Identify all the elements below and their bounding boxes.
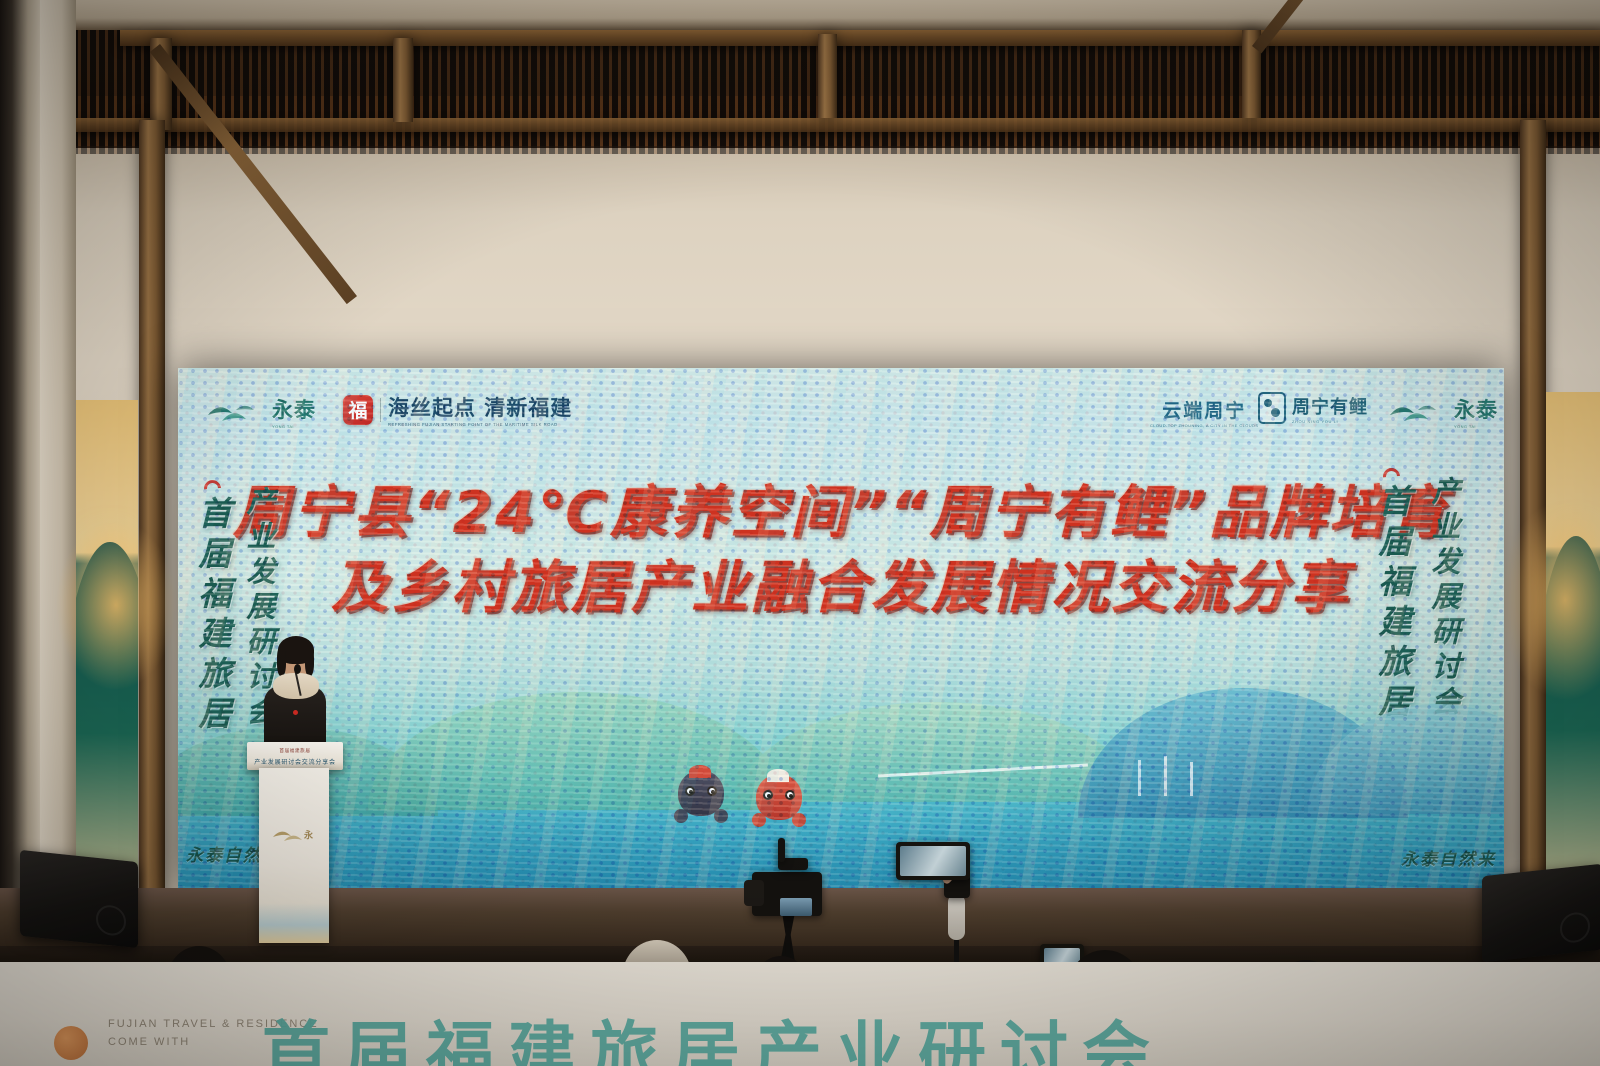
yunduan-logo-en: CLOUD-TOP ZHOUNING, A CITY IN THE CLOUDS bbox=[1150, 423, 1258, 428]
koi-eye-right-red bbox=[785, 790, 795, 800]
yunduan-logo-cn: 云端周宁 bbox=[1150, 396, 1258, 423]
illustration-pavilion-post-2 bbox=[1164, 756, 1167, 796]
roof-beam-horizontal-1 bbox=[120, 30, 1600, 46]
podium-sign-line-1: 首届福建旅居 bbox=[247, 748, 343, 754]
camera-shotgun-mic bbox=[778, 838, 785, 862]
yongtai-logo-right: 永泰 YONG TAI bbox=[1388, 394, 1498, 429]
hall-post-right bbox=[1520, 120, 1546, 950]
koi-eye-left-red bbox=[763, 790, 773, 800]
led-backdrop-screen: 永泰 YONG TAI 福 海丝起点 清新福建 REFRESHING FUJIA… bbox=[178, 368, 1504, 888]
zhouning-youli-logo: 周宁有鲤 ZHOU NING YOU LI bbox=[1258, 392, 1368, 424]
podium-yongtai-logo: 永 bbox=[272, 826, 316, 842]
koi-fin-right-red bbox=[792, 813, 806, 827]
bottom-banner-text: 首届福建旅居产业研讨会 bbox=[262, 998, 1164, 1066]
koi-seal-icon bbox=[1258, 392, 1286, 424]
birds-icon bbox=[206, 399, 268, 425]
gimbal-phone bbox=[896, 842, 970, 880]
microphone-head-icon bbox=[294, 664, 301, 674]
video-camera-screen bbox=[780, 898, 812, 916]
video-camera-lens bbox=[744, 880, 764, 906]
hall-post-left bbox=[139, 120, 165, 950]
podium-sign-line-2: 产业发展研讨会交流分享会 bbox=[247, 757, 343, 766]
led-logo-row: 永泰 YONG TAI 福 海丝起点 清新福建 REFRESHING FUJIA… bbox=[178, 386, 1504, 442]
ceiling-top-rail bbox=[0, 0, 1600, 30]
illustration-pavilion-post-1 bbox=[1138, 760, 1141, 796]
bottom-banner: FUJIAN TRAVEL & RESIDENCE COME WITH 首届福建… bbox=[0, 962, 1600, 1066]
yongtai-logo-right-cn: 永泰 bbox=[1454, 394, 1498, 424]
led-main-title: 周宁县“24℃康养空间”“周宁有鲤”品牌培育 及乡村旅居产业融合发展情况交流分享 bbox=[178, 476, 1504, 626]
koi-cap-dark bbox=[689, 765, 711, 778]
roof-post-3 bbox=[818, 34, 837, 118]
roof-beam-horizontal-2 bbox=[60, 118, 1600, 132]
yunduan-zhouning-logo: 云端周宁 CLOUD-TOP ZHOUNING, A CITY IN THE C… bbox=[1150, 396, 1258, 428]
gimbal-grip bbox=[948, 894, 965, 940]
zhouning-logo-cn: 周宁有鲤 bbox=[1292, 393, 1368, 419]
led-title-line-1: 周宁县“24℃康养空间”“周宁有鲤”品牌培育 bbox=[178, 476, 1504, 551]
svg-text:永: 永 bbox=[303, 829, 314, 841]
led-watermark-right: 永泰自然来 bbox=[1401, 845, 1496, 870]
podium-top: 首届福建旅居 产业发展研讨会交流分享会 bbox=[247, 742, 343, 770]
led-landscape-illustration: 永泰自然来 永泰自然来 bbox=[178, 678, 1504, 888]
bottom-banner-en: COME WITH bbox=[108, 1036, 190, 1048]
koi-eye-right-dark bbox=[707, 786, 717, 796]
fujian-tourism-logo: 福 海丝起点 清新福建 REFRESHING FUJIAN STARTING P… bbox=[343, 392, 572, 427]
birds-icon-right bbox=[1388, 399, 1450, 425]
yongtai-logo-left-cn: 永泰 bbox=[272, 394, 316, 424]
presenter-figure bbox=[265, 640, 325, 752]
stage-monitor-speaker-left bbox=[20, 850, 138, 948]
yongtai-logo-left: 永泰 YONG TAI bbox=[206, 394, 316, 429]
presenter-hair-right bbox=[305, 646, 314, 676]
hall-pillar-inner-left bbox=[40, 0, 76, 1000]
illustration-hill-2 bbox=[368, 692, 788, 810]
backdrop-art-right bbox=[1546, 392, 1600, 944]
illustration-pavilion-post-3 bbox=[1190, 762, 1193, 796]
koi-fin-right-dark bbox=[714, 809, 728, 823]
koi-mascot-dark bbox=[678, 770, 724, 816]
koi-mascot-red bbox=[756, 774, 802, 820]
zhouning-logo-en: ZHOU NING YOU LI bbox=[1292, 419, 1368, 424]
stage-monitor-speaker-right bbox=[1482, 864, 1600, 963]
presenter-hair-left bbox=[277, 646, 286, 676]
podium-sign: 首届福建旅居 产业发展研讨会交流分享会 bbox=[247, 748, 343, 766]
logo-divider bbox=[380, 398, 381, 422]
yongtai-logo-right-en: YONG TAI bbox=[1454, 424, 1498, 429]
fujian-logo-en: REFRESHING FUJIAN STARTING POINT OF THE … bbox=[388, 422, 572, 427]
banner-flower-icon bbox=[54, 1026, 88, 1060]
podium-body: 永 bbox=[259, 768, 329, 943]
koi-fin-left-dark bbox=[674, 809, 688, 823]
gimbal-phone-screen bbox=[900, 846, 966, 876]
koi-eye-left-dark bbox=[685, 786, 695, 796]
led-title-line-2: 及乡村旅居产业融合发展情况交流分享 bbox=[178, 551, 1504, 626]
yongtai-logo-left-en: YONG TAI bbox=[272, 424, 316, 429]
photo-scene: 永泰 YONG TAI 福 海丝起点 清新福建 REFRESHING FUJIA… bbox=[0, 0, 1600, 1066]
presenter-badge-pin bbox=[293, 710, 298, 715]
roof-post-2 bbox=[393, 38, 413, 122]
koi-cap-red bbox=[767, 769, 789, 782]
fu-seal-icon: 福 bbox=[343, 395, 373, 425]
fujian-logo-cn: 海丝起点 清新福建 bbox=[388, 392, 572, 422]
koi-fin-left-red bbox=[752, 813, 766, 827]
hall-pillar-outer-left bbox=[0, 0, 40, 1000]
